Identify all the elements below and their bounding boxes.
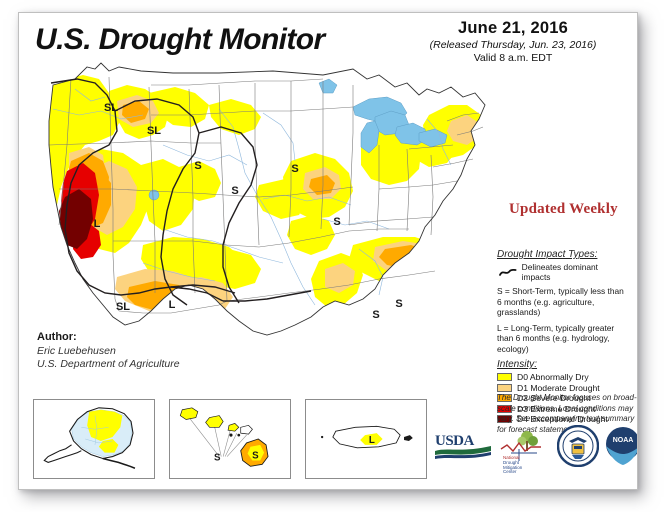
delineate-label: Delineates dominant impacts bbox=[522, 262, 627, 282]
map-impact-label: S bbox=[395, 298, 402, 310]
map-impact-label: S bbox=[372, 309, 379, 321]
kahoolawe bbox=[229, 434, 232, 437]
hawaii-bigisland-label-s: S bbox=[252, 451, 259, 462]
ndmc-logo: National Drought Mitigation Center bbox=[497, 427, 545, 478]
svg-text:Center: Center bbox=[503, 469, 517, 473]
map-impact-label: S bbox=[194, 160, 201, 172]
author-block: Author: Eric Luebehusen U.S. Department … bbox=[37, 331, 180, 371]
noaa-logo-text: NOAA bbox=[613, 437, 634, 444]
inset-map-puerto-rico[interactable]: L bbox=[305, 399, 427, 479]
molokai bbox=[228, 423, 239, 431]
delineate-row: Delineates dominant impacts bbox=[499, 262, 627, 282]
aleutian-chain bbox=[44, 445, 81, 463]
pr-label-l: L bbox=[369, 435, 375, 446]
legend-item-d0[interactable]: D0 Abnormally Dry bbox=[497, 372, 627, 382]
mona-island bbox=[321, 436, 323, 438]
legend-impact-title: Drought Impact Types: bbox=[497, 249, 627, 260]
oahu bbox=[206, 416, 224, 428]
map-impact-label: S bbox=[231, 185, 238, 197]
map-impact-label: SL bbox=[116, 301, 130, 313]
legend-label-d1: D1 Moderate Drought bbox=[517, 383, 600, 393]
alaska-panhandle bbox=[103, 459, 135, 469]
author-name: Eric Luebehusen bbox=[37, 345, 180, 358]
inset-map-alaska[interactable] bbox=[33, 399, 155, 479]
culebra-vieques bbox=[404, 435, 413, 441]
author-label: Author: bbox=[37, 331, 180, 345]
long-term-definition: L = Long-Term, typically greater than 6 … bbox=[497, 323, 627, 355]
swatch-d0-icon bbox=[497, 373, 512, 381]
noaa-logo: NOAA bbox=[601, 425, 638, 472]
map-impact-label: S bbox=[333, 216, 340, 228]
commerce-seal-logo bbox=[557, 425, 599, 472]
maui bbox=[241, 425, 253, 434]
delineation-line-icon bbox=[499, 268, 517, 277]
usda-logo: USDA bbox=[435, 431, 491, 470]
legend-label-d0: D0 Abnormally Dry bbox=[517, 372, 589, 382]
agency-logos: USDA National Drought Mitigation bbox=[435, 425, 635, 481]
drought-monitor-screenshot: U.S. Drought Monitor June 21, 2016 (Rele… bbox=[0, 0, 664, 512]
usda-logo-text: USDA bbox=[435, 433, 475, 449]
conus-map[interactable]: SLSLSSSSLSLLSSSS bbox=[23, 49, 493, 369]
map-date: June 21, 2016 bbox=[399, 19, 627, 38]
updated-weekly-note: Updated Weekly bbox=[509, 201, 618, 218]
legend-item-d1[interactable]: D1 Moderate Drought bbox=[497, 383, 627, 393]
short-term-definition: S = Short-Term, typically less than 6 mo… bbox=[497, 286, 627, 318]
inset-map-hawaii[interactable]: S S bbox=[169, 399, 291, 479]
map-impact-label: L bbox=[169, 299, 176, 311]
map-impact-label: S bbox=[291, 163, 298, 175]
legend-intensity-title: Intensity: bbox=[497, 359, 627, 370]
map-impact-label: SL bbox=[104, 102, 118, 114]
hawaii-label-s: S bbox=[214, 452, 221, 463]
drought-monitor-poster: U.S. Drought Monitor June 21, 2016 (Rele… bbox=[18, 12, 638, 490]
swatch-d1-icon bbox=[497, 384, 512, 392]
map-impact-label: L bbox=[94, 218, 101, 230]
kauai bbox=[180, 408, 198, 420]
lanai bbox=[237, 434, 240, 437]
map-impact-label: SL bbox=[147, 125, 161, 137]
author-org: U.S. Department of Agriculture bbox=[37, 358, 180, 371]
